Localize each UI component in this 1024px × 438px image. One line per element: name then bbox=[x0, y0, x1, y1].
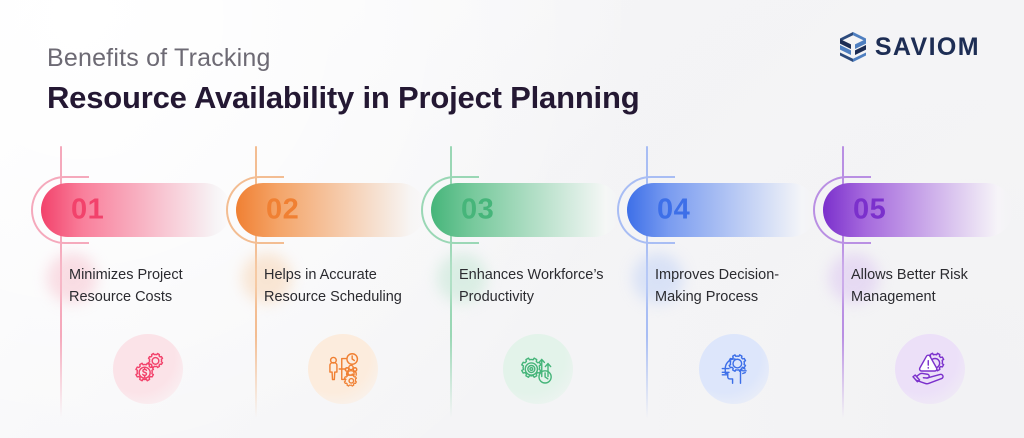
page-title: Resource Availability in Project Plannin… bbox=[47, 80, 639, 116]
gear-growth-clock-icon bbox=[518, 349, 558, 389]
hand-risk-gear-icon bbox=[910, 349, 950, 389]
card-number-pill: 05 bbox=[823, 183, 1013, 237]
card-caption: Allows Better Risk Management bbox=[851, 264, 1019, 308]
card-number: 03 bbox=[461, 194, 494, 227]
workforce-schedule-icon bbox=[323, 349, 363, 389]
card-caption: Improves Decision-Making Process bbox=[655, 264, 823, 308]
gears-dollar-icon bbox=[128, 349, 168, 389]
benefit-card-02[interactable]: 02 Helps in Accurate Resource Scheduling bbox=[226, 146, 422, 438]
benefit-card-05[interactable]: 05 Allows Better Risk Management bbox=[813, 146, 1009, 438]
saviom-logo-text: SAVIOM bbox=[875, 33, 980, 62]
card-icon-bubble bbox=[895, 334, 965, 404]
saviom-logo-mark-icon bbox=[840, 32, 866, 62]
head-gear-icon bbox=[714, 349, 754, 389]
card-icon-bubble bbox=[503, 334, 573, 404]
benefit-card-03[interactable]: 03 Enhances Workforce’s Productivity bbox=[421, 146, 617, 438]
card-number-pill: 04 bbox=[627, 183, 817, 237]
eyebrow-text: Benefits of Tracking bbox=[47, 44, 271, 73]
card-number: 01 bbox=[71, 194, 104, 227]
card-caption: Minimizes Project Resource Costs bbox=[69, 264, 237, 308]
card-number-pill: 02 bbox=[236, 183, 426, 237]
card-icon-bubble bbox=[308, 334, 378, 404]
benefit-cards: 01 Minimizes Project Resource Costs 02 H… bbox=[0, 146, 1024, 438]
card-number-pill: 03 bbox=[431, 183, 621, 237]
card-number: 05 bbox=[853, 194, 886, 227]
header: Benefits of Tracking Resource Availabili… bbox=[0, 0, 1024, 140]
card-number-pill: 01 bbox=[41, 183, 231, 237]
card-caption: Helps in Accurate Resource Scheduling bbox=[264, 264, 432, 308]
card-icon-bubble bbox=[113, 334, 183, 404]
saviom-logo: SAVIOM bbox=[840, 32, 980, 62]
benefit-card-01[interactable]: 01 Minimizes Project Resource Costs bbox=[31, 146, 227, 438]
card-caption: Enhances Workforce’s Productivity bbox=[459, 264, 627, 308]
card-number: 04 bbox=[657, 194, 690, 227]
card-icon-bubble bbox=[699, 334, 769, 404]
benefit-card-04[interactable]: 04 Improves Decision-Making Process bbox=[617, 146, 813, 438]
card-number: 02 bbox=[266, 194, 299, 227]
